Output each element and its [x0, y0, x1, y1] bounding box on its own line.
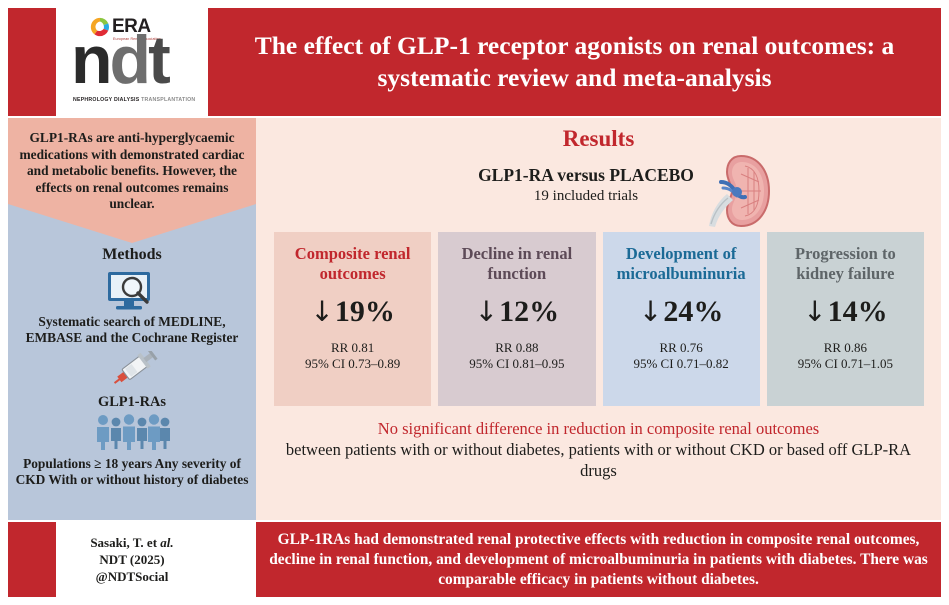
card-statistics: RR 0.88 95% CI 0.81–0.95: [469, 340, 564, 372]
card-statistics: RR 0.81 95% CI 0.73–0.89: [305, 340, 400, 372]
card-percent: 12%: [499, 295, 559, 329]
card-percent: 19%: [335, 295, 395, 329]
arrow-down-icon: ↓: [475, 297, 498, 327]
card-title: Progression to kidney failure: [771, 244, 920, 283]
subgroup-note-highlight: No significant difference in reduction i…: [270, 418, 927, 439]
card-rr: RR 0.88: [469, 340, 564, 356]
page-title: The effect of GLP-1 receptor agonists on…: [212, 14, 937, 110]
tagline-dark: NEPHROLOGY DIALYSIS: [73, 97, 141, 103]
card-effect-value: ↓14%: [803, 295, 887, 329]
citation-et-al: al.: [160, 535, 173, 550]
card-title: Composite renal outcomes: [278, 244, 427, 283]
card-rr: RR 0.86: [798, 340, 893, 356]
result-card-decline-in-renal-function[interactable]: Decline in renal function ↓12% RR 0.88 9…: [438, 232, 595, 406]
card-percent: 14%: [828, 295, 888, 329]
sidebar: GLP1-RAs are anti-hyperglycaemic medicat…: [8, 118, 256, 520]
frame-left-red-block: [8, 8, 56, 116]
conclusion-banner: GLP-1RAs had demonstrated renal protecti…: [256, 522, 941, 597]
card-effect-value: ↓24%: [639, 295, 723, 329]
methods-heading: Methods: [8, 246, 256, 264]
card-rr: RR 0.81: [305, 340, 400, 356]
result-card-composite-renal-outcomes[interactable]: Composite renal outcomes ↓19% RR 0.81 95…: [274, 232, 431, 406]
citation-social-handle: @NDTSocial: [90, 568, 173, 585]
ndt-letter-n: n: [71, 22, 110, 98]
intervention-label: GLP1-RAs: [8, 394, 256, 411]
card-ci: 95% CI 0.71–1.05: [798, 356, 893, 372]
card-title: Development of microalbuminuria: [607, 244, 756, 283]
result-card-progression-to-kidney-failure[interactable]: Progression to kidney failure ↓14% RR 0.…: [767, 232, 924, 406]
monitor-search-icon: [105, 270, 159, 312]
journal-logo: ERA European Renal Association ndt NEPHR…: [56, 8, 208, 116]
citation-panel: Sasaki, T. et al. NDT (2025) @NDTSocial: [56, 522, 208, 597]
card-title: Decline in renal function: [442, 244, 591, 283]
arrow-down-icon: ↓: [310, 297, 333, 327]
card-effect-value: ↓19%: [310, 295, 394, 329]
results-heading: Results: [256, 126, 941, 152]
results-cards: Composite renal outcomes ↓19% RR 0.81 95…: [274, 232, 924, 406]
methods-search-text: Systematic search of MEDLINE, EMBASE and…: [12, 314, 252, 347]
subgroup-note: No significant difference in reduction i…: [270, 418, 927, 481]
citation-journal-year: NDT (2025): [90, 551, 173, 568]
results-section: Results GLP1-RA versus PLACEBO 19 includ…: [256, 118, 941, 520]
ndt-letter-t: t: [148, 22, 168, 98]
infographic-poster: ERA European Renal Association ndt NEPHR…: [0, 0, 949, 605]
card-rr: RR 0.76: [633, 340, 728, 356]
card-percent: 24%: [663, 295, 723, 329]
subgroup-note-detail: between patients with or without diabete…: [270, 439, 927, 481]
sidebar-intro-text: GLP1-RAs are anti-hyperglycaemic medicat…: [16, 130, 248, 213]
ndt-wordmark: ndt: [71, 26, 168, 94]
card-statistics: RR 0.86 95% CI 0.71–1.05: [798, 340, 893, 372]
card-effect-value: ↓12%: [475, 295, 559, 329]
result-card-development-of-microalbuminuria[interactable]: Development of microalbuminuria ↓24% RR …: [603, 232, 760, 406]
card-statistics: RR 0.76 95% CI 0.71–0.82: [633, 340, 728, 372]
people-group-icon: [94, 414, 170, 450]
syringe-icon: [108, 351, 160, 387]
card-ci: 95% CI 0.73–0.89: [305, 356, 400, 372]
kidney-icon: [701, 152, 773, 230]
card-ci: 95% CI 0.81–0.95: [469, 356, 564, 372]
frame-bottom-red-block: [8, 522, 56, 597]
ndt-letter-d: d: [110, 22, 149, 98]
card-ci: 95% CI 0.71–0.82: [633, 356, 728, 372]
citation-authors: Sasaki, T. et al.: [90, 534, 173, 551]
arrow-down-icon: ↓: [803, 297, 826, 327]
arrow-down-icon: ↓: [639, 297, 662, 327]
journal-tagline: NEPHROLOGY DIALYSIS TRANSPLANTATION: [73, 97, 197, 103]
tagline-grey: TRANSPLANTATION: [141, 97, 195, 103]
population-criteria-text: Populations ≥ 18 years Any severity of C…: [10, 456, 254, 489]
conclusion-text: GLP-1RAs had demonstrated renal protecti…: [266, 530, 931, 590]
